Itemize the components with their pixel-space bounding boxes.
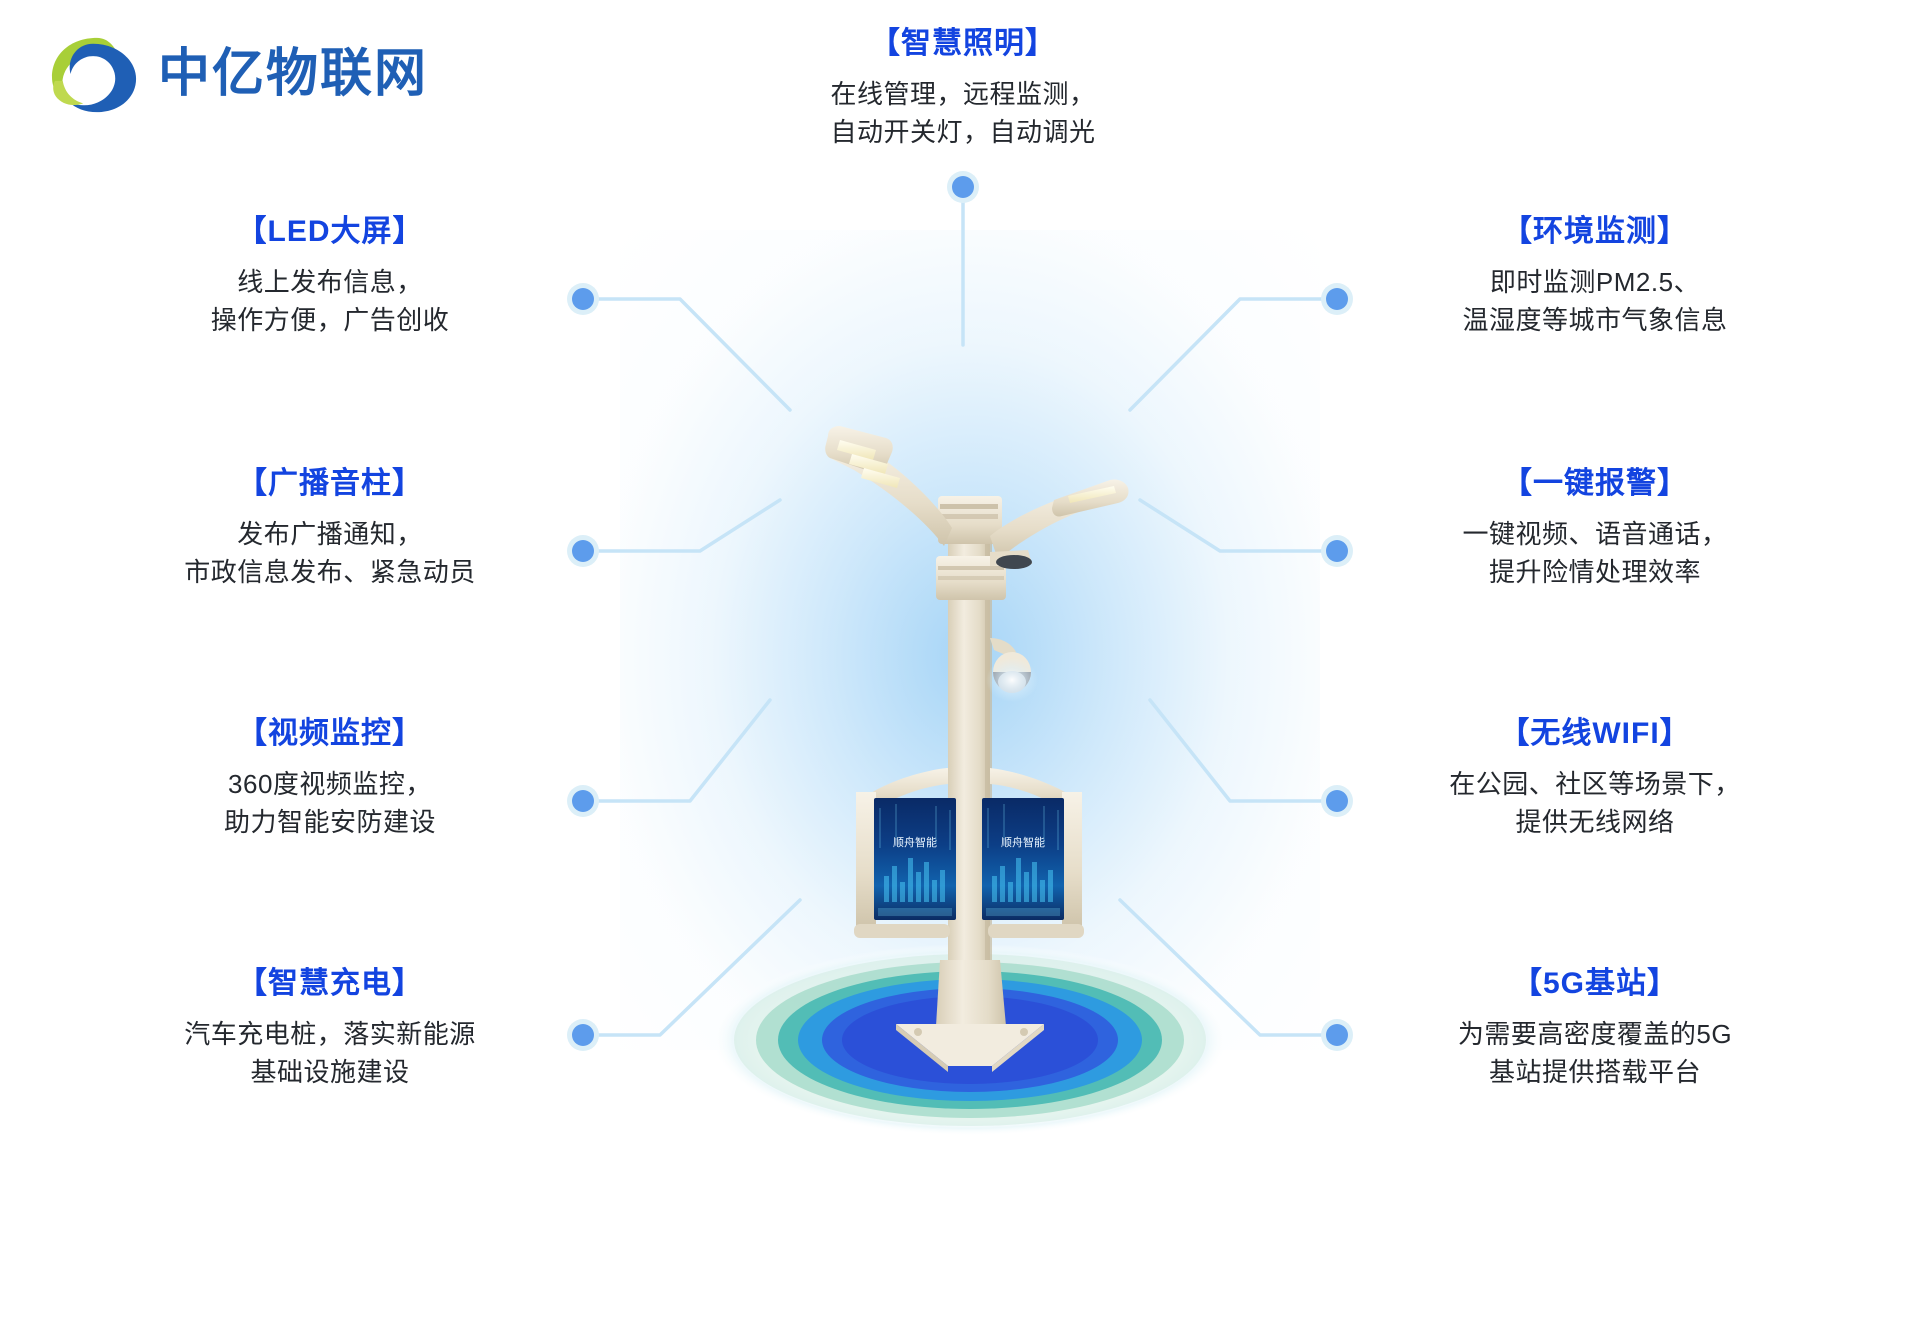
- feature-description: 在线管理，远程监测， 自动开关灯，自动调光: [753, 75, 1173, 152]
- connector-dot-broadcast: [567, 535, 599, 567]
- screen-brand-text-right: 顺舟智能: [1001, 835, 1045, 849]
- connector-dot-wifi: [1321, 785, 1353, 817]
- feature-smart-charging[interactable]: 【智慧充电】 汽车充电桩，落实新能源 基础设施建设: [115, 965, 545, 1091]
- feature-description: 即时监测PM2.5、 温湿度等城市气象信息: [1380, 263, 1810, 340]
- feature-video-surveillance[interactable]: 【视频监控】 360度视频监控， 助力智能安防建设: [115, 715, 545, 841]
- feature-description: 一键视频、语音通话， 提升险情处理效率: [1380, 515, 1810, 592]
- feature-broadcast-speaker[interactable]: 【广播音柱】 发布广播通知， 市政信息发布、紧急动员: [115, 465, 545, 591]
- connector-dot-video-surveillance: [567, 785, 599, 817]
- connector-dot-smart-lighting: [947, 171, 979, 203]
- feature-one-key-alarm[interactable]: 【一键报警】 一键视频、语音通话， 提升险情处理效率: [1380, 465, 1810, 591]
- connector-dot-smart-charging: [567, 1019, 599, 1051]
- feature-title: 【智慧照明】: [753, 25, 1173, 63]
- feature-led-screen[interactable]: 【LED大屏】 线上发布信息， 操作方便，广告创收: [115, 213, 545, 339]
- feature-description: 汽车充电桩，落实新能源 基础设施建设: [115, 1015, 545, 1092]
- connector-dot-alarm: [1321, 535, 1353, 567]
- connector-line-led-screen: [583, 299, 790, 410]
- connector-dot-led-screen: [567, 283, 599, 315]
- feature-5g-base-station[interactable]: 【5G基站】 为需要高密度覆盖的5G 基站提供搭载平台: [1380, 965, 1810, 1091]
- feature-title: 【智慧充电】: [115, 965, 545, 1003]
- feature-environment-monitoring[interactable]: 【环境监测】 即时监测PM2.5、 温湿度等城市气象信息: [1380, 213, 1810, 339]
- feature-title: 【一键报警】: [1380, 465, 1810, 503]
- feature-title: 【5G基站】: [1380, 965, 1810, 1003]
- infographic-canvas: 中亿物联网: [0, 0, 1920, 1329]
- feature-description: 为需要高密度覆盖的5G 基站提供搭载平台: [1380, 1015, 1810, 1092]
- feature-description: 360度视频监控， 助力智能安防建设: [115, 765, 545, 842]
- screen-brand-text-left: 顺舟智能: [893, 835, 937, 849]
- feature-description: 线上发布信息， 操作方便，广告创收: [115, 263, 545, 340]
- feature-smart-lighting[interactable]: 【智慧照明】 在线管理，远程监测， 自动开关灯，自动调光: [753, 25, 1173, 151]
- feature-title: 【LED大屏】: [115, 213, 545, 251]
- smart-pole-illustration: 顺舟智能 顺舟智能: [690, 400, 1250, 1140]
- feature-wireless-wifi[interactable]: 【无线WIFI】 在公园、社区等场景下， 提供无线网络: [1380, 715, 1810, 841]
- swirl-logo-icon: [46, 30, 144, 118]
- connector-dot-5g: [1321, 1019, 1353, 1051]
- feature-title: 【无线WIFI】: [1380, 715, 1810, 753]
- connector-line-environment: [1130, 299, 1337, 410]
- feature-title: 【广播音柱】: [115, 465, 545, 503]
- connector-dot-environment: [1321, 283, 1353, 315]
- brand-name: 中亿物联网: [158, 48, 428, 100]
- feature-title: 【环境监测】: [1380, 213, 1810, 251]
- brand-logo[interactable]: 中亿物联网: [46, 30, 428, 118]
- feature-description: 在公园、社区等场景下， 提供无线网络: [1380, 765, 1810, 842]
- feature-title: 【视频监控】: [115, 715, 545, 753]
- feature-description: 发布广播通知， 市政信息发布、紧急动员: [115, 515, 545, 592]
